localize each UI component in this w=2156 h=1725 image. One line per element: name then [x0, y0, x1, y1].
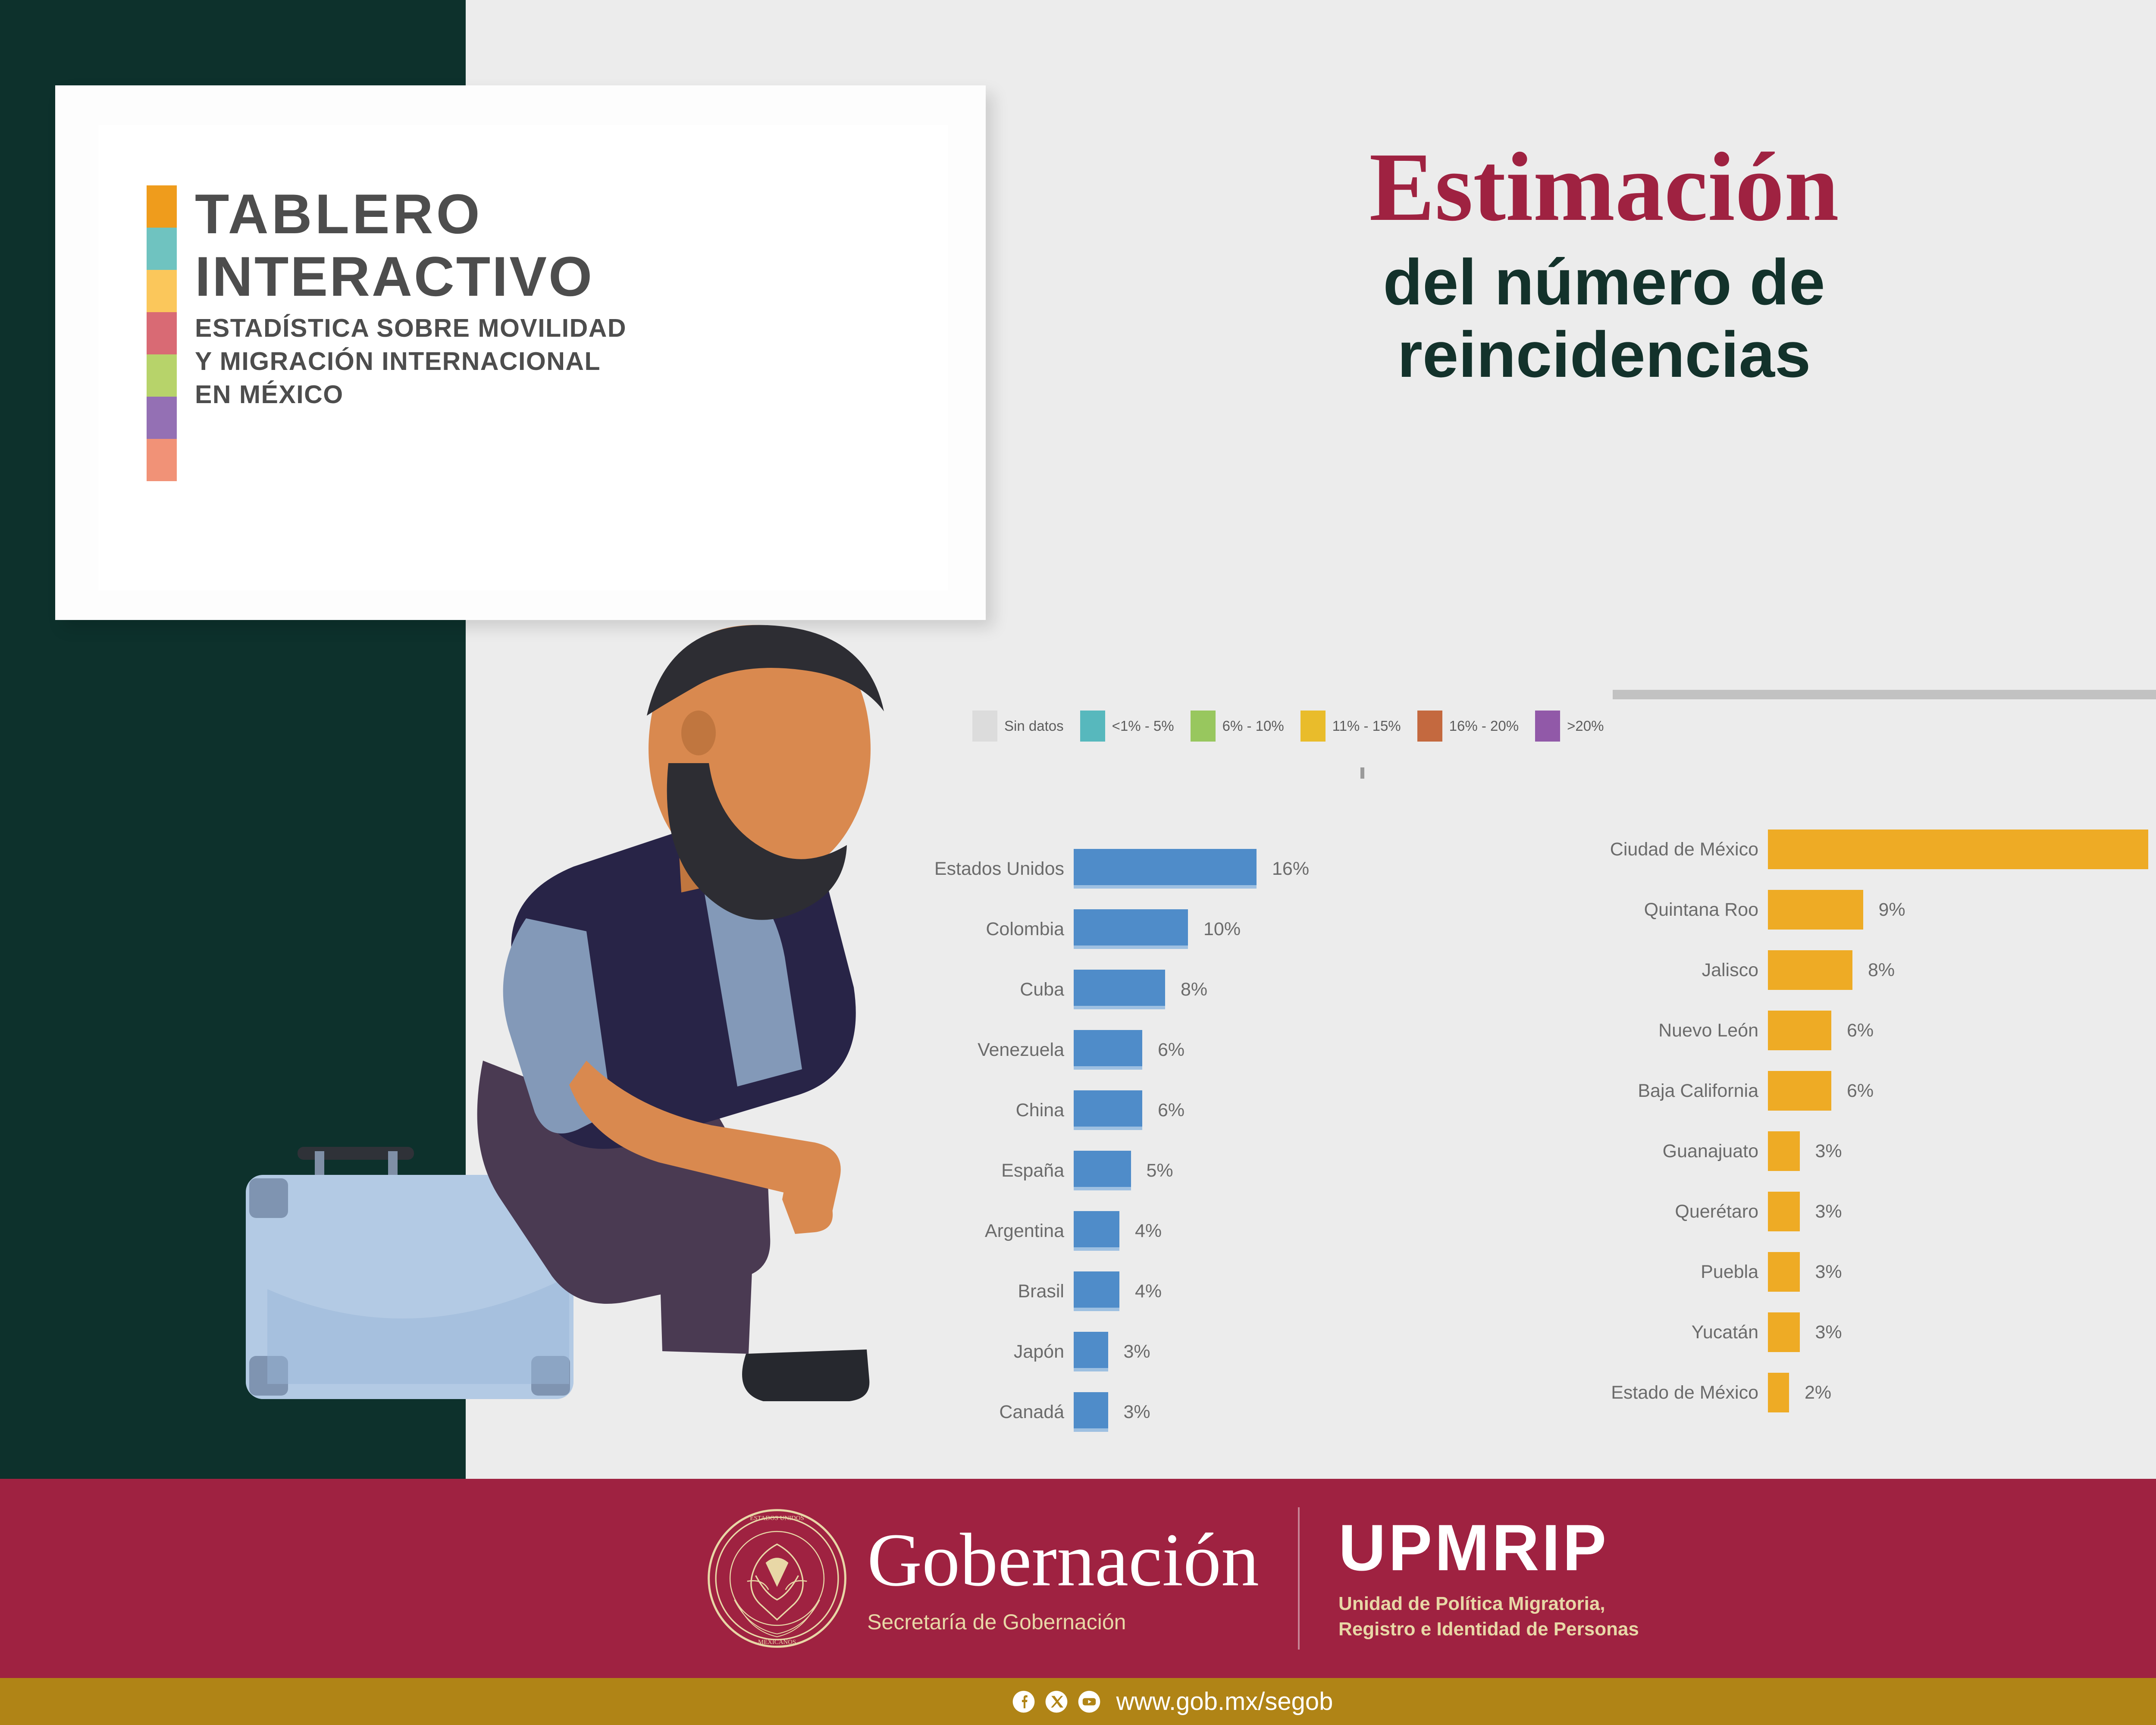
chart-value-label: 3% — [1815, 1262, 1842, 1283]
website-url[interactable]: www.gob.mx/segob — [1116, 1687, 1333, 1716]
legend-swatch — [1300, 711, 1326, 742]
chart-category-label: Brasil — [789, 1281, 1074, 1302]
chart-value-label: 8% — [1181, 979, 1207, 1000]
chart-category-label: China — [789, 1100, 1074, 1121]
chart-value-label: 2% — [1805, 1382, 1831, 1403]
logo-color-swatches — [147, 185, 177, 481]
chart-value-label: 16% — [1272, 858, 1309, 880]
legend-swatch — [1535, 711, 1560, 742]
legend-item[interactable]: Sin datos — [972, 711, 1064, 742]
chart-category-label: Yucatán — [1475, 1322, 1768, 1343]
logo-swatch-orange — [147, 185, 177, 228]
chart-row[interactable]: Colombia10% — [789, 899, 1350, 959]
chart-row[interactable]: Puebla3% — [1475, 1242, 2156, 1302]
secretaria-subtitle: Secretaría de Gobernación — [867, 1609, 1259, 1634]
legend-item[interactable]: 16% - 20% — [1417, 711, 1519, 742]
chart-row[interactable]: España5% — [789, 1140, 1350, 1201]
chart-value-label: 3% — [1815, 1201, 1842, 1222]
mexican-coat-of-arms-seal: ESTADOS UNIDOS MEXICANOS — [706, 1507, 848, 1650]
legend-swatch — [1417, 711, 1442, 742]
gobernacion-wordmark: Gobernación — [867, 1522, 1259, 1598]
legend-label: 11% - 15% — [1332, 718, 1401, 734]
chart-value-label: 6% — [1847, 1020, 1874, 1041]
chart-category-label: Canadá — [789, 1402, 1074, 1423]
chart-bar[interactable] — [1768, 950, 1852, 990]
legend-item[interactable]: 11% - 15% — [1300, 711, 1401, 742]
upmrip-wordmark: UPMRIP — [1338, 1515, 1639, 1581]
chart-bar[interactable] — [1768, 1312, 1800, 1352]
chart-bar[interactable] — [1768, 890, 1863, 930]
chart-value-label: 6% — [1158, 1039, 1185, 1061]
legend-swatch — [1080, 711, 1105, 742]
chart-category-label: Venezuela — [789, 1039, 1074, 1061]
chart-bar[interactable] — [1074, 1211, 1119, 1251]
chart-value-label: 4% — [1135, 1281, 1162, 1302]
chart-category-label: Guanajuato — [1475, 1141, 1768, 1162]
chart-row[interactable]: Venezuela6% — [789, 1020, 1350, 1080]
chart-value-label: 10% — [1203, 919, 1241, 940]
tablero-logo: TABLERO INTERACTIVO ESTADÍSTICA SOBRE MO… — [147, 185, 627, 481]
chart-row[interactable]: Estado de México2% — [1475, 1362, 2156, 1423]
chart-category-label: Nuevo León — [1475, 1020, 1768, 1041]
x-twitter-icon[interactable] — [1045, 1690, 1068, 1713]
chart-row[interactable]: Querétaro3% — [1475, 1181, 2156, 1242]
logo-swatch-green — [147, 354, 177, 397]
legend-tick-mark — [1360, 767, 1364, 779]
facebook-icon[interactable] — [1012, 1690, 1035, 1713]
svg-text:MEXICANOS: MEXICANOS — [758, 1639, 796, 1646]
chart-row[interactable]: Japón3% — [789, 1321, 1350, 1382]
title-main-word: Estimación — [1130, 138, 2078, 236]
logo-line-tablero: TABLERO — [195, 185, 627, 243]
chart-row[interactable]: Nuevo León6% — [1475, 1000, 2156, 1061]
upmrip-subtitle-line-2: Registro e Identidad de Personas — [1338, 1616, 1639, 1642]
chart-category-label: España — [789, 1160, 1074, 1181]
chart-row[interactable]: Baja California6% — [1475, 1061, 2156, 1121]
chart-bar[interactable] — [1074, 1392, 1108, 1432]
chart-bar[interactable] — [1768, 1071, 1831, 1111]
chart-row[interactable]: Estados Unidos16% — [789, 839, 1350, 899]
chart-row[interactable]: Jalisco8% — [1475, 940, 2156, 1000]
chart-bar[interactable] — [1074, 1332, 1108, 1371]
title-subline-1: del número de — [1130, 246, 2078, 318]
chart-value-label: 3% — [1815, 1141, 1842, 1162]
legend-label: Sin datos — [1004, 718, 1064, 734]
logo-subtitle-line-1: ESTADÍSTICA SOBRE MOVILIDAD — [195, 312, 627, 345]
chart-bar[interactable] — [1768, 1192, 1800, 1231]
chart-value-label: 3% — [1124, 1402, 1150, 1423]
chart-row[interactable]: Cuba8% — [789, 959, 1350, 1020]
chart-countries: Estados Unidos16%Colombia10%Cuba8%Venezu… — [789, 839, 1350, 1442]
chart-bar[interactable] — [1768, 1373, 1789, 1412]
legend-item[interactable]: 6% - 10% — [1191, 711, 1284, 742]
chart-value-label: 4% — [1135, 1221, 1162, 1242]
chart-bar[interactable] — [1074, 849, 1257, 889]
logo-swatch-red — [147, 312, 177, 354]
legend-label: 16% - 20% — [1449, 718, 1519, 734]
chart-bar[interactable] — [1074, 970, 1165, 1009]
chart-bar[interactable] — [1074, 909, 1188, 949]
logo-text-block: TABLERO INTERACTIVO ESTADÍSTICA SOBRE MO… — [195, 185, 627, 411]
chart-bar[interactable] — [1768, 1252, 1800, 1292]
chart-category-label: Japón — [789, 1341, 1074, 1362]
logo-subtitle-line-2: Y MIGRACIÓN INTERNACIONAL — [195, 345, 627, 378]
chart-category-label: Estados Unidos — [789, 858, 1074, 880]
upmrip-brand: UPMRIP Unidad de Política Migratoria, Re… — [1338, 1515, 1639, 1642]
chart-value-label: 6% — [1847, 1080, 1874, 1102]
chart-category-label: Argentina — [789, 1221, 1074, 1242]
government-banner: ESTADOS UNIDOS MEXICANOS Gobernación Sec… — [0, 1479, 2156, 1678]
chart-bar[interactable] — [1768, 1131, 1800, 1171]
chart-row[interactable]: China6% — [789, 1080, 1350, 1140]
legend-label: >20% — [1567, 718, 1604, 734]
chart-category-label: Quintana Roo — [1475, 899, 1768, 920]
chart-bar[interactable] — [1074, 1151, 1131, 1190]
chart-value-label: 5% — [1147, 1160, 1173, 1181]
legend-swatch — [972, 711, 997, 742]
chart-category-label: Baja California — [1475, 1080, 1768, 1102]
youtube-icon[interactable] — [1078, 1690, 1101, 1713]
chart-row[interactable]: Guanajuato3% — [1475, 1121, 2156, 1181]
chart-category-label: Cuba — [789, 979, 1074, 1000]
logo-line-interactivo: INTERACTIVO — [195, 248, 627, 305]
chart-category-label: Puebla — [1475, 1262, 1768, 1283]
chart-row[interactable]: Ciudad de México36% — [1475, 819, 2156, 880]
page-title: Estimación del número de reincidencias — [1130, 138, 2078, 391]
legend-rule — [1613, 690, 2156, 699]
legend-label: 6% - 10% — [1222, 718, 1284, 734]
chart-bar[interactable] — [1768, 1011, 1831, 1050]
ear — [681, 711, 716, 755]
logo-swatch-teal — [147, 228, 177, 270]
legend-swatch — [1191, 711, 1216, 742]
chart-value-label: 3% — [1815, 1322, 1842, 1343]
upmrip-subtitle-line-1: Unidad de Política Migratoria, — [1338, 1591, 1639, 1616]
segob-brand: Gobernación Secretaría de Gobernación — [867, 1522, 1259, 1634]
map-legend: Sin datos<1% - 5%6% - 10%11% - 15%16% - … — [972, 711, 1620, 742]
chart-category-label: Estado de México — [1475, 1382, 1768, 1403]
logo-swatch-purple — [147, 397, 177, 439]
chart-bar[interactable] — [1074, 1271, 1119, 1311]
chart-category-label: Colombia — [789, 919, 1074, 940]
chart-bar[interactable] — [1074, 1090, 1142, 1130]
chart-row[interactable]: Brasil4% — [789, 1261, 1350, 1321]
chart-value-label: 8% — [1868, 960, 1895, 981]
title-subline-2: reincidencias — [1130, 318, 2078, 391]
logo-subtitle-line-3: EN MÉXICO — [195, 378, 627, 411]
legend-item[interactable]: <1% - 5% — [1080, 711, 1174, 742]
chart-value-label: 9% — [1879, 899, 1905, 920]
logo-swatch-salmon — [147, 439, 177, 481]
chart-category-label: Jalisco — [1475, 960, 1768, 981]
chart-bar[interactable] — [1074, 1030, 1142, 1070]
chart-row[interactable]: Yucatán3% — [1475, 1302, 2156, 1362]
chart-value-label: 3% — [1124, 1341, 1150, 1362]
chart-value-label: 6% — [1158, 1100, 1185, 1121]
banner-divider — [1298, 1507, 1300, 1650]
legend-label: <1% - 5% — [1112, 718, 1174, 734]
chart-row[interactable]: Quintana Roo9% — [1475, 880, 2156, 940]
svg-text:ESTADOS UNIDOS: ESTADOS UNIDOS — [750, 1515, 804, 1522]
social-url-bar: www.gob.mx/segob — [0, 1678, 2156, 1725]
chart-row[interactable]: Argentina4% — [789, 1201, 1350, 1261]
chart-states: Ciudad de México36%Quintana Roo9%Jalisco… — [1475, 819, 2156, 1423]
chart-category-label: Querétaro — [1475, 1201, 1768, 1222]
chart-bar[interactable] — [1768, 830, 2148, 869]
chart-row[interactable]: Canadá3% — [789, 1382, 1350, 1442]
logo-swatch-yellow — [147, 270, 177, 312]
chart-category-label: Ciudad de México — [1475, 839, 1768, 860]
legend-item[interactable]: >20% — [1535, 711, 1604, 742]
